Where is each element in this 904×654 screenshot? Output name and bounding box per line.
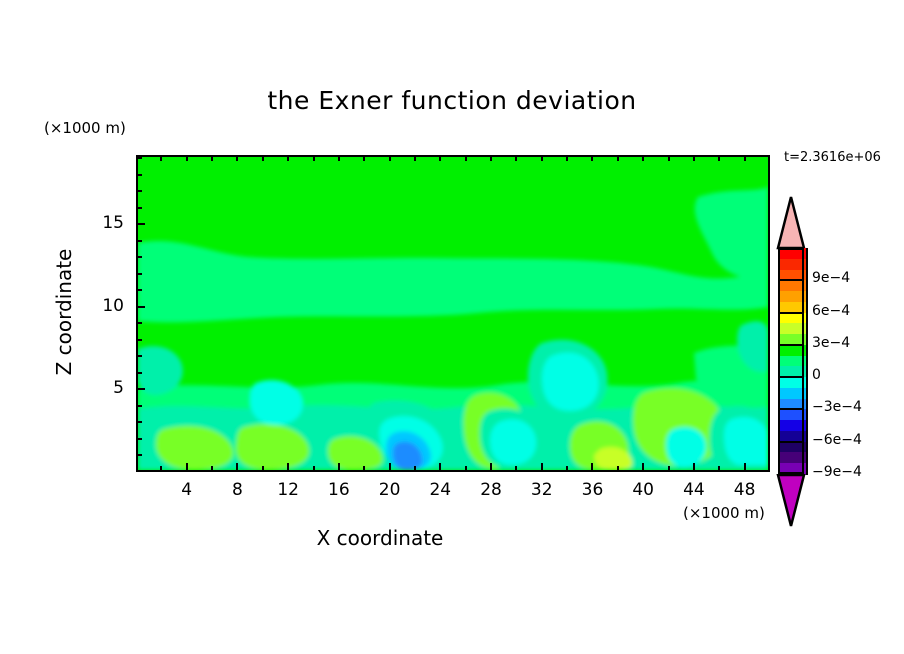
y-tick-label: 5 — [84, 378, 124, 398]
x-tick-label: 44 — [674, 480, 714, 500]
colorbar-label: −3e−4 — [812, 399, 862, 415]
x-minor-tick-top — [541, 155, 543, 161]
x-tick-label: 24 — [420, 480, 460, 500]
x-minor-tick-top — [186, 155, 188, 161]
colorbar-band — [778, 248, 808, 259]
colorbar-band — [778, 313, 808, 324]
x-minor-tick — [211, 466, 213, 472]
colorbar-tick — [778, 376, 804, 378]
contour-field — [138, 157, 768, 470]
colorbar-band — [778, 323, 808, 334]
contour-plot-area — [136, 155, 770, 472]
x-minor-tick-top — [439, 155, 441, 161]
x-tick-label: 8 — [217, 480, 257, 500]
y-minor-tick — [136, 190, 142, 192]
y-minor-tick — [136, 438, 142, 440]
colorbar-tick — [778, 441, 804, 443]
x-minor-tick-top — [693, 155, 695, 161]
x-tick-label: 20 — [370, 480, 410, 500]
colorbar-band — [778, 388, 808, 399]
x-tick-label: 40 — [623, 480, 663, 500]
colorbar-under-arrow-outline — [776, 474, 806, 528]
x-minor-tick — [338, 466, 340, 472]
x-minor-tick — [642, 466, 644, 472]
x-minor-tick — [617, 466, 619, 472]
x-tick-label: 12 — [268, 480, 308, 500]
x-minor-tick — [541, 466, 543, 472]
colorbar-band — [778, 409, 808, 420]
x-minor-tick — [465, 466, 467, 472]
x-minor-tick — [160, 466, 162, 472]
y-minor-tick — [136, 322, 142, 324]
y-minor-tick — [136, 339, 142, 341]
x-axis-title: X coordinate — [0, 526, 760, 550]
x-minor-tick — [414, 466, 416, 472]
y-minor-tick — [136, 256, 142, 258]
x-axis-unit-label: (×1000 m) — [683, 504, 765, 522]
x-minor-tick — [693, 466, 695, 472]
x-minor-tick — [566, 466, 568, 472]
colorbar-band — [778, 442, 808, 453]
colorbar-tick — [778, 408, 804, 410]
x-tick-label: 4 — [167, 480, 207, 500]
x-minor-tick — [262, 466, 264, 472]
y-minor-tick — [136, 174, 142, 176]
x-minor-tick-top — [287, 155, 289, 161]
y-tick-label: 15 — [84, 213, 124, 233]
colorbar-label: 0 — [812, 367, 821, 383]
x-minor-tick-top — [668, 155, 670, 161]
y-axis-title: Z coordinate — [52, 212, 76, 412]
x-minor-tick-top — [236, 155, 238, 161]
y-minor-tick — [136, 421, 142, 423]
x-minor-tick-top — [515, 155, 517, 161]
x-minor-tick — [313, 466, 315, 472]
y-minor-tick — [136, 157, 142, 159]
y-minor-tick — [136, 306, 142, 308]
x-tick-label: 28 — [471, 480, 511, 500]
colorbar[interactable]: 9e−46e−43e−40−3e−4−6e−4−9e−4 — [770, 196, 904, 526]
x-tick-label: 16 — [319, 480, 359, 500]
x-minor-tick — [363, 466, 365, 472]
y-tick-label: 10 — [84, 296, 124, 316]
y-minor-tick — [136, 405, 142, 407]
x-minor-tick-top — [211, 155, 213, 161]
colorbar-band — [778, 280, 808, 291]
x-tick-label: 32 — [522, 480, 562, 500]
timestamp-annotation: t=2.3616e+06 — [784, 150, 881, 165]
colorbar-label: −6e−4 — [812, 432, 862, 448]
x-minor-tick-top — [718, 155, 720, 161]
y-minor-tick — [136, 454, 142, 456]
y-minor-tick — [136, 289, 142, 291]
x-minor-tick — [744, 466, 746, 472]
x-minor-tick-top — [465, 155, 467, 161]
colorbar-band — [778, 377, 808, 388]
x-minor-tick-top — [617, 155, 619, 161]
x-minor-tick-top — [338, 155, 340, 161]
x-minor-tick-top — [566, 155, 568, 161]
x-minor-tick-top — [642, 155, 644, 161]
colorbar-band — [778, 291, 808, 302]
y-minor-tick — [136, 273, 142, 275]
colorbar-band — [778, 345, 808, 356]
colorbar-label: −9e−4 — [812, 464, 862, 480]
colorbar-band — [778, 356, 808, 367]
colorbar-band — [778, 259, 808, 270]
x-minor-tick-top — [414, 155, 416, 161]
colorbar-over-arrow-outline — [776, 196, 806, 250]
x-minor-tick — [236, 466, 238, 472]
x-tick-label: 48 — [725, 480, 765, 500]
x-minor-tick-top — [160, 155, 162, 161]
chart-title: the Exner function deviation — [0, 86, 904, 115]
x-minor-tick-top — [591, 155, 593, 161]
x-minor-tick-top — [389, 155, 391, 161]
colorbar-band — [778, 420, 808, 431]
x-minor-tick — [287, 466, 289, 472]
x-minor-tick — [439, 466, 441, 472]
colorbar-tick — [778, 344, 804, 346]
y-minor-tick — [136, 372, 142, 374]
y-axis-unit-label: (×1000 m) — [44, 119, 126, 137]
x-minor-tick-top — [744, 155, 746, 161]
x-minor-tick — [515, 466, 517, 472]
colorbar-tick — [778, 279, 804, 281]
x-minor-tick — [490, 466, 492, 472]
x-minor-tick-top — [490, 155, 492, 161]
x-minor-tick — [668, 466, 670, 472]
x-tick-label: 36 — [572, 480, 612, 500]
y-minor-tick — [136, 388, 142, 390]
colorbar-band — [778, 452, 808, 463]
x-minor-tick — [718, 466, 720, 472]
colorbar-label: 6e−4 — [812, 303, 850, 319]
x-minor-tick — [186, 466, 188, 472]
x-minor-tick-top — [262, 155, 264, 161]
x-minor-tick-top — [363, 155, 365, 161]
x-minor-tick — [389, 466, 391, 472]
y-minor-tick — [136, 355, 142, 357]
colorbar-tick — [778, 312, 804, 314]
colorbar-label: 3e−4 — [812, 335, 850, 351]
y-minor-tick — [136, 207, 142, 209]
x-minor-tick — [591, 466, 593, 472]
y-minor-tick — [136, 223, 142, 225]
y-minor-tick — [136, 240, 142, 242]
colorbar-label: 9e−4 — [812, 270, 850, 286]
x-minor-tick-top — [313, 155, 315, 161]
